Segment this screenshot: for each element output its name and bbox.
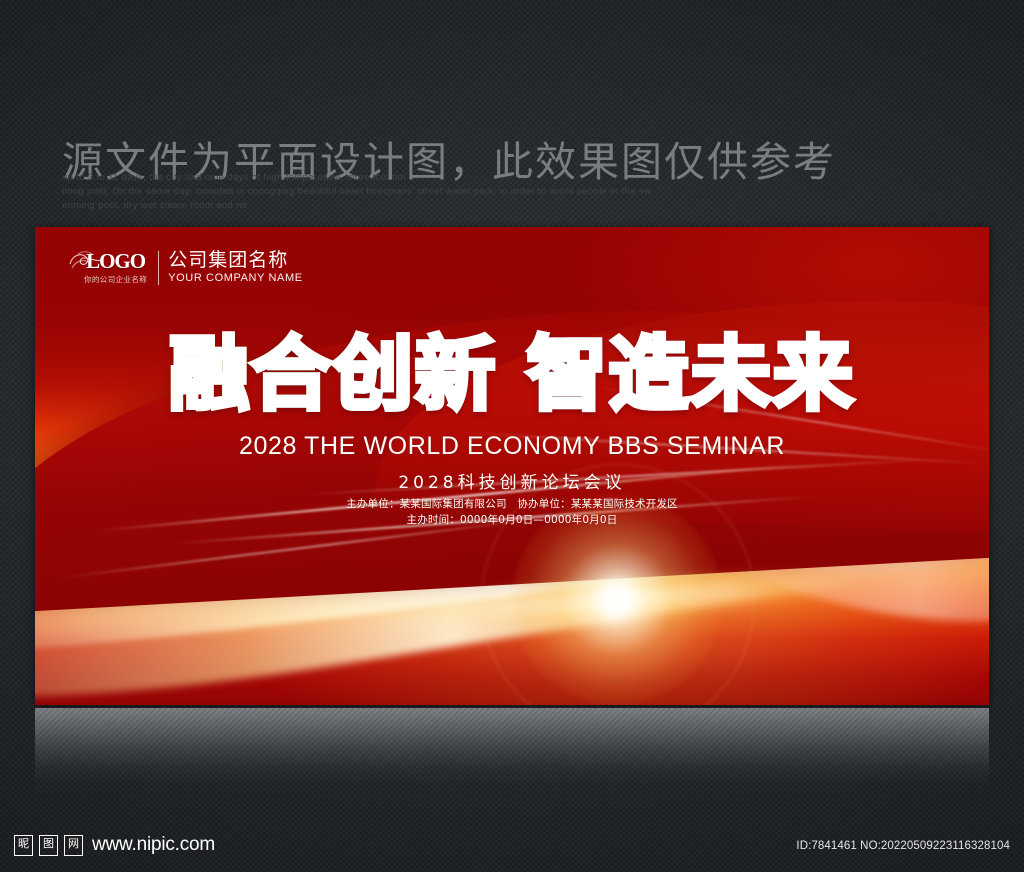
logo-divider [158,251,159,285]
watermark-english-line-2: ming pool. On the same day, crowded in c… [62,186,651,197]
company-name-zh: 公司集团名称 [168,251,302,271]
poster-reflection [35,708,989,792]
poster-organizer-line: 主办单位：某某国际集团有限公司 协办单位：某某某国际技术开发区 [35,496,989,511]
poster-artwork[interactable]: LOGO 你的公司企业名称 公司集团名称 YOUR COMPANY NAME 融… [35,227,989,705]
asset-id-label: ID:7841461 NO:20220509223116328104 [796,840,1010,852]
company-name-block: 公司集团名称 YOUR COMPANY NAME [168,251,302,284]
headline-container: 融合创新 智造未来 [35,335,989,415]
company-name-en: YOUR COMPANY NAME [168,273,302,285]
brand-char-1: 昵 [14,835,33,856]
site-url[interactable]: www.nipic.com [92,834,215,856]
watermark-english-line-3: enming pool, dry wet steam room and no [62,200,247,211]
logo-wordmark: LOGO [84,251,147,272]
brand-char-3: 网 [64,835,83,856]
logo-mark: LOGO 你的公司企业名称 [84,251,149,285]
poster-date-line: 主办时间：0000年0月0日—0000年0月0日 [35,512,989,527]
logo-subtitle: 你的公司企业名称 [84,274,147,285]
logo-lockup[interactable]: LOGO 你的公司企业名称 公司集团名称 YOUR COMPANY NAME [84,251,303,285]
poster-subtitle-english: 2028 THE WORLD ECONOMY BBS SEMINAR [35,432,989,461]
poster-content: LOGO 你的公司企业名称 公司集团名称 YOUR COMPANY NAME 融… [35,227,989,705]
site-branding[interactable]: 昵 图 网 www.nipic.com [14,834,215,856]
watermark-english-line-1: up to 3 to 11 days, the city had nine da… [62,172,406,183]
screenshot-canvas: 源文件为平面设计图，此效果图仅供参考 up to 3 to 11 days, t… [0,0,1024,872]
poster-subtitle-chinese: 2028科技创新论坛会议 [35,468,989,493]
reflection-texture [35,708,989,792]
brand-char-2: 图 [39,835,58,856]
poster-headline: 融合创新 智造未来 [169,335,855,415]
